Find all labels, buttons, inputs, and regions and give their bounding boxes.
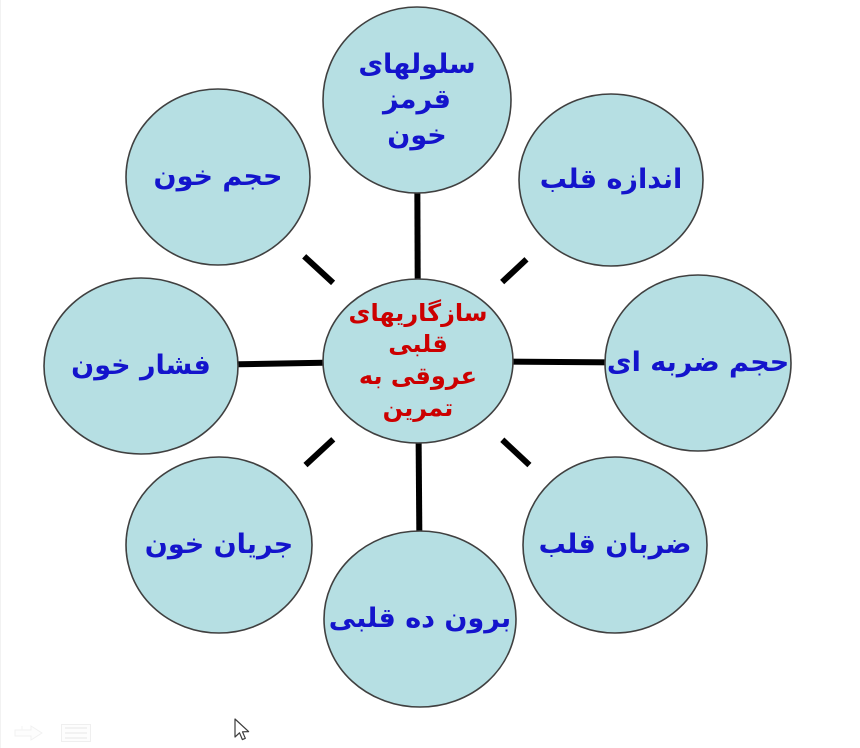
viewer-toolbar[interactable] — [13, 724, 91, 742]
nodes-layer — [44, 7, 791, 707]
arrow-icon[interactable] — [13, 724, 45, 742]
node-circle-red-blood-cells[interactable] — [323, 7, 511, 193]
edge-center-to-blood-pressure — [232, 363, 330, 365]
node-circle-cardiac-output[interactable] — [324, 531, 516, 707]
edge-center-to-cardiac-output — [419, 437, 420, 537]
lines-icon[interactable] — [61, 724, 91, 742]
node-circle-blood-volume[interactable] — [126, 89, 310, 265]
node-circle-heart-size[interactable] — [519, 94, 703, 266]
concept-map-svg — [1, 0, 860, 748]
node-circle-heart-rate[interactable] — [523, 457, 707, 633]
node-circle-blood-flow[interactable] — [126, 457, 312, 633]
edge-center-to-heart-size — [502, 259, 526, 282]
node-circle-center[interactable] — [323, 279, 513, 443]
diagram-canvas: سازگاریهای قلبی عروقی به تمرینسلولهای قر… — [0, 0, 860, 748]
edge-center-to-heart-rate — [502, 440, 529, 465]
node-circle-stroke-volume[interactable] — [605, 275, 791, 451]
edge-center-to-blood-volume — [304, 256, 333, 283]
node-circle-blood-pressure[interactable] — [44, 278, 238, 454]
edge-center-to-blood-flow — [305, 439, 333, 465]
edge-center-to-stroke-volume — [506, 362, 612, 363]
